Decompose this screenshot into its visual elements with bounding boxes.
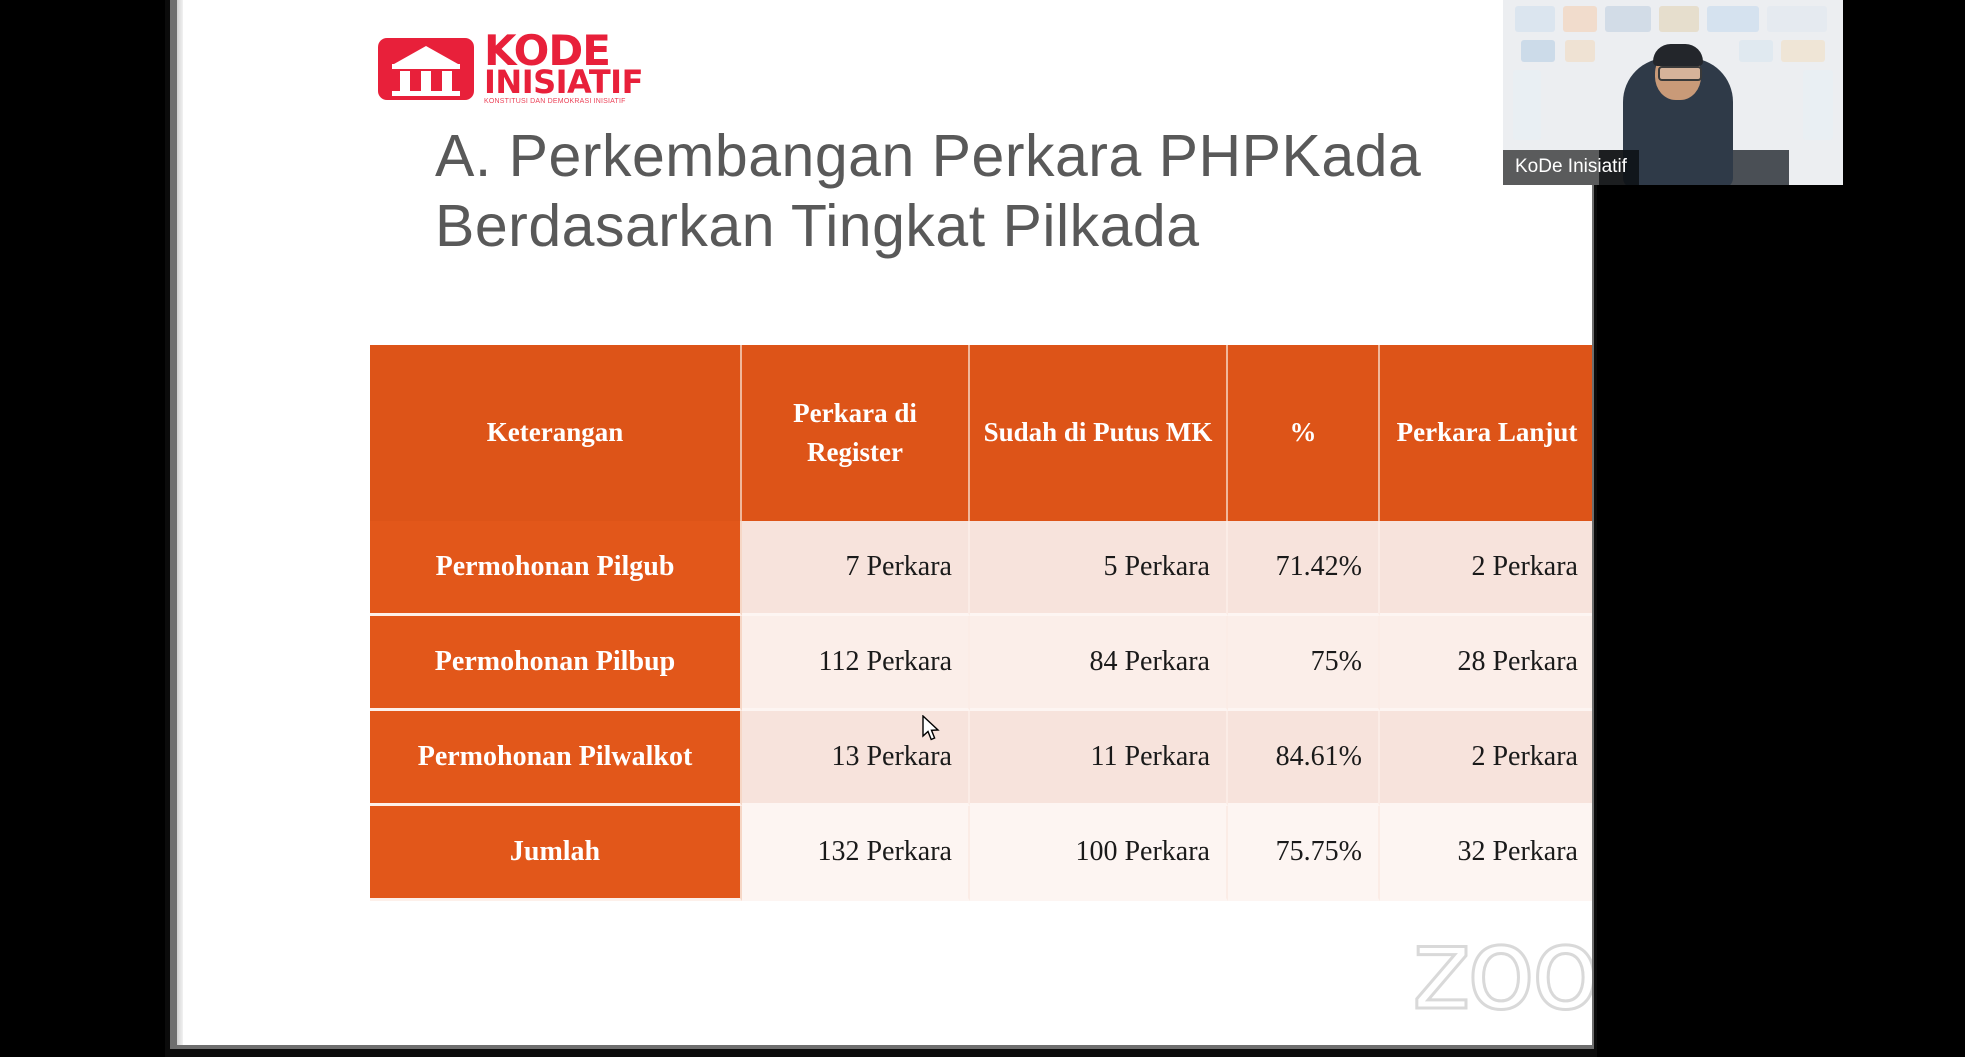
row-label-total: Jumlah: [370, 806, 742, 901]
zoom-watermark: zoom: [1412, 905, 1592, 1035]
glasses-icon: [1658, 66, 1702, 81]
table-row: Permohonan Pilwalkot 13 Perkara 11 Perka…: [370, 711, 1592, 806]
courthouse-icon: [378, 38, 474, 100]
column-header-perkara-lanjut: Perkara Lanjut: [1380, 345, 1592, 521]
participant-name-label: KoDe Inisiatif: [1503, 150, 1639, 185]
presentation-slide: KODE INISIATIF KONSTITUSI DAN DEMOKRASI …: [177, 0, 1592, 1045]
cell-sudah-di-putus-mk: 11 Perkara: [970, 711, 1228, 806]
column-header-perkara-di-register: Perkara di Register: [742, 345, 970, 521]
logo-tagline: KONSTITUSI DAN DEMOKRASI INISIATIF: [484, 99, 643, 105]
document-scroll-gutter[interactable]: [177, 0, 183, 1045]
screen-share-viewport: KODE INISIATIF KONSTITUSI DAN DEMOKRASI …: [165, 0, 1597, 1057]
participant-video-tile[interactable]: KoDe Inisiatif: [1503, 0, 1843, 185]
table-row: Permohonan Pilbup 112 Perkara 84 Perkara…: [370, 616, 1592, 711]
table-header-row: Keterangan Perkara di Register Sudah di …: [370, 345, 1592, 521]
column-header-sudah-di-putus-mk: Sudah di Putus MK: [970, 345, 1228, 521]
logo-wordmark: KODE INISIATIF KONSTITUSI DAN DEMOKRASI …: [484, 33, 643, 105]
cell-perkara-lanjut: 2 Perkara: [1380, 521, 1592, 616]
column-header-keterangan: Keterangan: [370, 345, 742, 521]
cell-persen-putus: 75.75%: [1228, 806, 1380, 901]
cell-sudah-di-putus-mk: 84 Perkara: [970, 616, 1228, 711]
cell-sudah-di-putus-mk: 100 Perkara: [970, 806, 1228, 901]
cell-perkara-lanjut: 28 Perkara: [1380, 616, 1592, 711]
cell-perkara-di-register: 7 Perkara: [742, 521, 970, 616]
zoom-meeting-stage: KODE INISIATIF KONSTITUSI DAN DEMOKRASI …: [0, 0, 1965, 1057]
cell-persen-putus: 71.42%: [1228, 521, 1380, 616]
cell-perkara-lanjut: 2 Perkara: [1380, 711, 1592, 806]
cell-perkara-di-register: 132 Perkara: [742, 806, 970, 901]
table-row: Permohonan Pilgub 7 Perkara 5 Perkara 71…: [370, 521, 1592, 616]
kode-inisiatif-logo: KODE INISIATIF KONSTITUSI DAN DEMOKRASI …: [378, 33, 643, 105]
cell-persen-putus: 75%: [1228, 616, 1380, 711]
row-label: Permohonan Pilwalkot: [370, 711, 742, 806]
cell-perkara-di-register: 112 Perkara: [742, 616, 970, 711]
slide-title: A. Perkembangan Perkara PHPKada Berdasar…: [435, 122, 1555, 261]
participant-hair: [1653, 44, 1703, 66]
phpkada-data-table: Keterangan Perkara di Register Sudah di …: [370, 345, 1592, 901]
cell-sudah-di-putus-mk: 5 Perkara: [970, 521, 1228, 616]
cell-perkara-lanjut: 32 Perkara: [1380, 806, 1592, 901]
cell-persen-putus: 84.61%: [1228, 711, 1380, 806]
row-label: Permohonan Pilbup: [370, 616, 742, 711]
cell-perkara-di-register: 13 Perkara: [742, 711, 970, 806]
logo-brand-inisiatif: INISIATIF: [484, 69, 643, 97]
column-header-persen-putus: %: [1228, 345, 1380, 521]
row-label: Permohonan Pilgub: [370, 521, 742, 616]
table-row-total: Jumlah 132 Perkara 100 Perkara 75.75% 32…: [370, 806, 1592, 901]
